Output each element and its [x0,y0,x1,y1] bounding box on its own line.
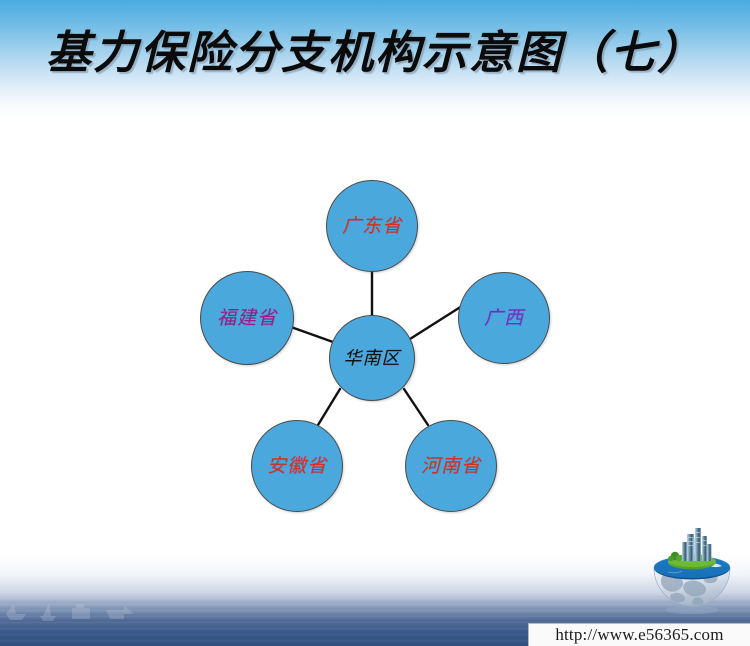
globe-city-icon [648,524,736,618]
node-label-anhui: 安徽省 [267,457,327,476]
edge-center-anhui [318,389,340,425]
boat-silhouettes-icon [0,594,300,628]
edge-center-guangxi [410,306,462,339]
edge-center-henan [404,389,428,425]
node-anhui[interactable]: 安徽省 [251,420,343,512]
watermark-url: http://www.e56365.com [555,625,723,645]
node-label-guangdong: 广东省 [342,217,402,236]
node-fujian[interactable]: 福建省 [200,271,294,365]
node-label-fujian: 福建省 [217,309,277,328]
connector-lines [0,0,750,560]
node-label-center-huanan: 华南区 [344,349,401,367]
org-chart-diagram: 广东省 广西 河南省 安徽省 福建省 华南区 [0,0,750,560]
node-guangdong[interactable]: 广东省 [326,180,418,272]
watermark-band: http://www.e56365.com [528,623,750,646]
edge-center-fujian [291,327,333,342]
node-label-guangxi: 广西 [484,309,524,328]
slide-canvas: 基力保险分支机构示意图（七） 广东省 广西 河南省 安徽省 [0,0,750,646]
node-center-huanan[interactable]: 华南区 [329,315,415,401]
node-label-henan: 河南省 [421,457,481,476]
node-guangxi[interactable]: 广西 [458,272,550,364]
node-henan[interactable]: 河南省 [405,420,497,512]
